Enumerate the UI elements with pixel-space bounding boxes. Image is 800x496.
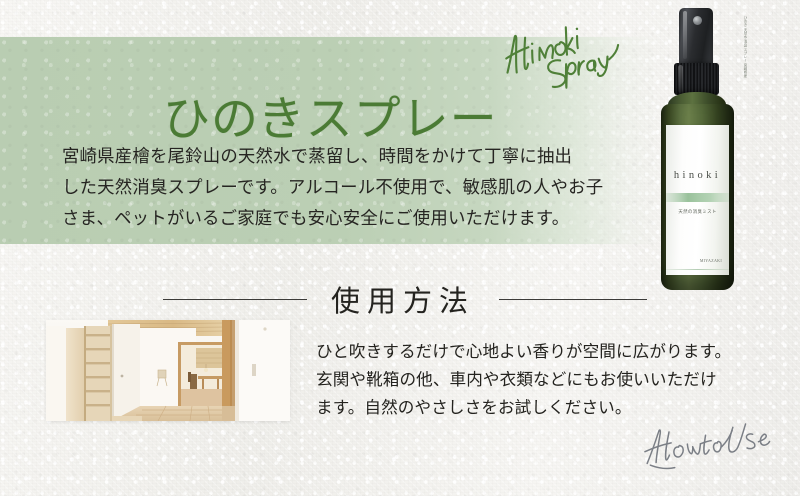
usage-description: ひと吹きするだけで心地よい香りが空間に広がります。 玄関や靴箱の他、車内や衣類な… (316, 338, 756, 422)
bottle-spray-collar (674, 63, 719, 95)
page-title: ひのきスプレー (163, 97, 498, 144)
hero-description-line-1: 宮崎県産檜を尾鈴山の天然水で蒸留し、時間をかけて丁寧に抽出 (62, 141, 562, 172)
bottle-label-footnote: MIYAZAKI (700, 258, 722, 263)
bottle-label-brand: hinoki (666, 170, 729, 181)
bottle-label-band (666, 193, 729, 202)
product-bottle-image: hinoki 天然の消臭ミスト MIYAZAKI ひのき 天然水 消臭 スプレー… (646, 8, 750, 290)
hero-description-line-2: した天然消臭スプレーです。アルコール不使用で、敏感肌の人やお子 (62, 172, 562, 203)
usage-description-line-2: 玄関や靴箱の他、車内や衣類などにもお使いいただけ (316, 366, 756, 394)
product-advertisement-page: ひのきスプレー (0, 0, 800, 496)
hero-description-line-3: さま、ペットがいるご家庭でも安心安全にご使用いただけます。 (62, 203, 562, 234)
bottle-side-text: ひのき 天然水 消臭 スプレー 宮崎県産 (740, 16, 747, 148)
bottle-label-bottom-rule (666, 269, 729, 270)
heading-rule-left (163, 299, 307, 300)
heading-rule-right (499, 299, 647, 300)
usage-description-line-3: ます。自然のやさしさをお試しください。 (316, 394, 756, 422)
bottle-label-subtitle: 天然の消臭ミスト (666, 209, 729, 215)
interior-entryway-photo (46, 320, 290, 421)
bottle-label: hinoki 天然の消臭ミスト MIYAZAKI (666, 125, 729, 275)
usage-description-line-1: ひと吹きするだけで心地よい香りが空間に広がります。 (316, 338, 756, 366)
hero-description: 宮崎県産檜を尾鈴山の天然水で蒸留し、時間をかけて丁寧に抽出 した天然消臭スプレー… (62, 141, 562, 234)
usage-heading-text: 使用方法 (331, 278, 475, 320)
usage-section-heading: 使用方法 (150, 278, 660, 320)
bottle-clear-cap (679, 8, 713, 66)
